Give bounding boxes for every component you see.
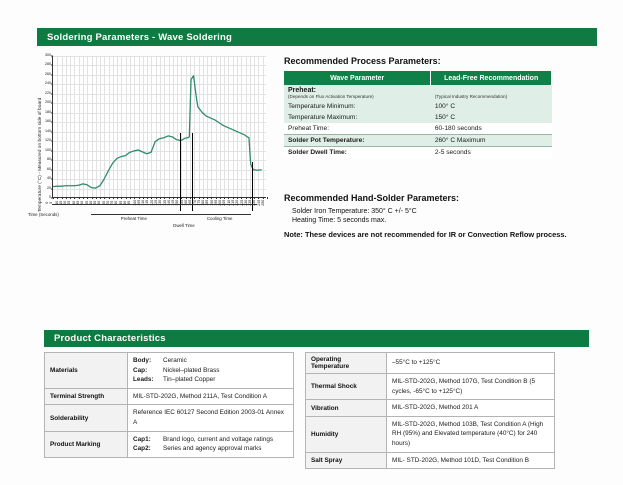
characteristic-value: MIL-STD-202G, Method 201 A: [387, 400, 555, 417]
x-tick-mark: [126, 197, 127, 199]
x-tick-mark: [100, 197, 101, 199]
hand-solder-iron-temperature: Solder Iron Temperature: 350° C +/- 5°C: [292, 208, 584, 215]
x-tick-mark: [74, 197, 75, 199]
cell-preheat-time-value: 60-180 seconds: [431, 123, 552, 135]
product-characteristics-right-table: Operating Temperature–55°C to +125°CTher…: [305, 352, 555, 469]
process-parameters-heading: Recommended Process Parameters:: [284, 56, 574, 66]
x-tick-mark: [57, 197, 58, 199]
table-row-preheat-time: Preheat Time: 60-180 seconds: [284, 123, 552, 135]
x-tick-mark: [130, 197, 131, 199]
soldering-parameters-header: Soldering Parameters - Wave Soldering: [37, 28, 597, 46]
x-tick-mark: [83, 197, 84, 199]
table-row-temperature-minimum: Temperature Minimum: 100° C: [284, 101, 552, 112]
cell-preheat-value: (Typical Industry Recommendation): [431, 85, 552, 101]
x-tick-mark: [113, 197, 114, 199]
hand-solder-heading: Recommended Hand-Solder Parameters:: [284, 193, 584, 203]
x-tick-mark: [241, 197, 242, 199]
characteristic-sub-value: Tin–plated Copper: [163, 375, 215, 385]
characteristic-sub-key: Cap1:: [133, 435, 159, 445]
x-tick-label: 250: [262, 199, 266, 205]
dwell-start-marker: [180, 133, 182, 211]
table-row: HumidityMIL-STD-202G, Method 103B, Test …: [306, 416, 555, 452]
process-parameters-table: Wave Parameter Lead-Free Recommendation …: [284, 71, 552, 158]
cell-solder-pot-temperature-label: Solder Pot Temperature:: [284, 135, 431, 147]
table-row: Product MarkingCap1:Brand logo, current …: [45, 431, 294, 457]
characteristic-sub-value: Brand logo, current and voltage ratings: [163, 435, 273, 445]
characteristic-label: Product Marking: [45, 431, 128, 457]
phase-label-preheat-time: Preheat Time: [121, 216, 147, 221]
x-tick-mark: [109, 197, 110, 199]
table-row-temperature-maximum: Temperature Maximum: 150° C: [284, 112, 552, 123]
cell-temperature-minimum-value: 100° C: [431, 101, 552, 112]
x-tick-label: 5: [50, 201, 54, 203]
characteristic-sub-key: Body:: [133, 356, 159, 366]
characteristic-label: Salt Spray: [306, 452, 387, 469]
x-tick-mark: [254, 197, 255, 199]
cell-temperature-maximum-value: 150° C: [431, 112, 552, 123]
x-tick-mark: [143, 197, 144, 199]
characteristic-value: MIL-STD-202G, Method 103B, Test Conditio…: [387, 416, 555, 452]
product-characteristics-title: Product Characteristics: [54, 333, 166, 344]
table-header-row: Wave Parameter Lead-Free Recommendation: [284, 71, 552, 85]
characteristic-value: Cap1:Brand logo, current and voltage rat…: [128, 431, 294, 457]
document-page: Soldering Parameters - Wave Soldering Te…: [0, 0, 623, 485]
chart-plot-area: 0204060801001201401601802002202402602803…: [52, 56, 266, 198]
chart-y-axis-title: Temperature (°C) - Measured on bottom si…: [37, 82, 42, 212]
temperature-profile-line: [53, 76, 262, 188]
wave-soldering-profile-chart: Temperature (°C) - Measured on bottom si…: [28, 52, 280, 234]
characteristic-value: MIL-STD-202G, Method 107G, Test Conditio…: [387, 374, 555, 400]
reflow-process-note: Note: These devices are not recommended …: [284, 230, 584, 241]
characteristic-label: Terminal Strength: [45, 388, 128, 405]
characteristic-label: Humidity: [306, 416, 387, 452]
x-tick-mark: [237, 197, 238, 199]
temperature-profile-curve: [53, 56, 266, 197]
cell-solder-dwell-time-label: Solder Dwell Time:: [284, 147, 431, 159]
characteristic-sub-value: Nickel–plated Brass: [163, 366, 219, 376]
x-tick-mark: [139, 197, 140, 199]
x-tick-mark: [134, 197, 135, 199]
characteristic-value: MIL-STD-202G, Method 211A, Test Conditio…: [128, 388, 294, 405]
x-tick-mark: [246, 197, 247, 199]
table-row: MaterialsBody:CeramicCap:Nickel–plated B…: [45, 353, 294, 389]
hand-solder-heating-time: Heating Time: 5 seconds max.: [292, 217, 584, 224]
cell-solder-dwell-time-value: 2-5 seconds: [431, 147, 552, 159]
x-tick-mark: [96, 197, 97, 199]
cell-temperature-minimum-label: Temperature Minimum:: [284, 101, 431, 112]
cell-preheat-time-label: Preheat Time:: [284, 123, 431, 135]
cell-solder-pot-temperature-value: 260° C Maximum: [431, 135, 552, 147]
characteristic-label: Operating Temperature: [306, 353, 387, 374]
phase-label-dwell-time: Dwell Time: [173, 223, 194, 228]
characteristic-sub-key: Leads:: [133, 375, 159, 385]
table-row: Operating Temperature–55°C to +125°C: [306, 353, 555, 374]
phase-range-bar: [91, 214, 179, 215]
characteristic-value: –55°C to +125°C: [387, 353, 555, 374]
x-tick-mark: [70, 197, 71, 199]
table-row: SolderabilityReference IEC 60127 Second …: [45, 405, 294, 431]
x-tick-mark: [224, 197, 225, 199]
x-tick-mark: [203, 197, 204, 199]
time-axis-bar: [52, 204, 257, 205]
characteristic-sub-key: Cap2:: [133, 444, 159, 454]
characteristic-label: Vibration: [306, 400, 387, 417]
x-tick-mark: [258, 197, 259, 199]
x-tick-mark: [79, 197, 80, 199]
x-tick-mark: [87, 197, 88, 199]
x-tick-mark: [92, 197, 93, 199]
recommended-hand-solder-block: Recommended Hand-Solder Parameters: Sold…: [284, 193, 584, 240]
product-characteristics-header: Product Characteristics: [44, 330, 589, 347]
characteristic-label: Solderability: [45, 405, 128, 431]
col-header-wave-parameter: Wave Parameter: [284, 71, 431, 85]
table-row-solder-pot-temperature: Solder Pot Temperature: 260° C Maximum: [284, 135, 552, 147]
characteristic-sub-value: Ceramic: [163, 356, 187, 366]
x-tick-mark: [199, 197, 200, 199]
characteristic-label: Thermal Shock: [306, 374, 387, 400]
cell-temperature-maximum-label: Temperature Maximum:: [284, 112, 431, 123]
characteristic-value: Body:CeramicCap:Nickel–plated BrassLeads…: [128, 353, 294, 389]
chart-x-axis-title: Time (Seconds): [28, 212, 59, 217]
characteristic-value: Reference IEC 60127 Second Edition 2003-…: [128, 405, 294, 431]
x-tick-mark: [263, 197, 264, 199]
x-tick-mark: [267, 197, 268, 199]
soldering-parameters-title: Soldering Parameters - Wave Soldering: [47, 32, 232, 43]
x-tick-mark: [151, 197, 152, 199]
x-tick-mark: [228, 197, 229, 199]
product-characteristics-left-table: MaterialsBody:CeramicCap:Nickel–plated B…: [44, 352, 294, 458]
table-row: Terminal StrengthMIL-STD-202G, Method 21…: [45, 388, 294, 405]
table-row: VibrationMIL-STD-202G, Method 201 A: [306, 400, 555, 417]
characteristic-value: MIL- STD-202G, Method 101D, Test Conditi…: [387, 452, 555, 469]
x-tick-mark: [211, 197, 212, 199]
table-row-preheat: Preheat: (Depends on Flux Activation Tem…: [284, 85, 552, 101]
x-tick-mark: [194, 197, 195, 199]
x-tick-mark: [207, 197, 208, 199]
phase-range-bar: [191, 214, 251, 215]
col-header-lead-free-recommendation: Lead-Free Recommendation: [431, 71, 552, 85]
recommended-process-parameters-block: Recommended Process Parameters: Wave Par…: [284, 56, 574, 158]
x-tick-mark: [177, 197, 178, 199]
x-tick-mark: [181, 197, 182, 199]
x-tick-mark: [164, 197, 165, 199]
x-tick-mark: [169, 197, 170, 199]
x-tick-mark: [121, 197, 122, 199]
characteristic-sub-key: Cap:: [133, 366, 159, 376]
table-row-solder-dwell-time: Solder Dwell Time: 2-5 seconds: [284, 147, 552, 159]
table-row: Salt SprayMIL- STD-202G, Method 101D, Te…: [306, 452, 555, 469]
x-tick-mark: [104, 197, 105, 199]
table-row: Thermal ShockMIL-STD-202G, Method 107G, …: [306, 374, 555, 400]
x-tick-mark: [66, 197, 67, 199]
x-tick-mark: [156, 197, 157, 199]
x-tick-mark: [160, 197, 161, 199]
x-tick-mark: [220, 197, 221, 199]
x-tick-mark: [53, 197, 54, 199]
characteristic-sub-value: Series and agency approval marks: [163, 444, 261, 454]
phase-label-cooling-time: Cooling Time: [207, 216, 233, 221]
dwell-end-marker: [192, 133, 194, 211]
cell-preheat-label: Preheat: (Depends on Flux Activation Tem…: [284, 85, 431, 101]
phase-range-bar: [179, 214, 191, 215]
x-tick-mark: [173, 197, 174, 199]
characteristic-label: Materials: [45, 353, 128, 389]
x-tick-mark: [117, 197, 118, 199]
x-tick-mark: [233, 197, 234, 199]
x-tick-mark: [216, 197, 217, 199]
x-tick-mark: [186, 197, 187, 199]
x-tick-mark: [62, 197, 63, 199]
x-tick-mark: [147, 197, 148, 199]
